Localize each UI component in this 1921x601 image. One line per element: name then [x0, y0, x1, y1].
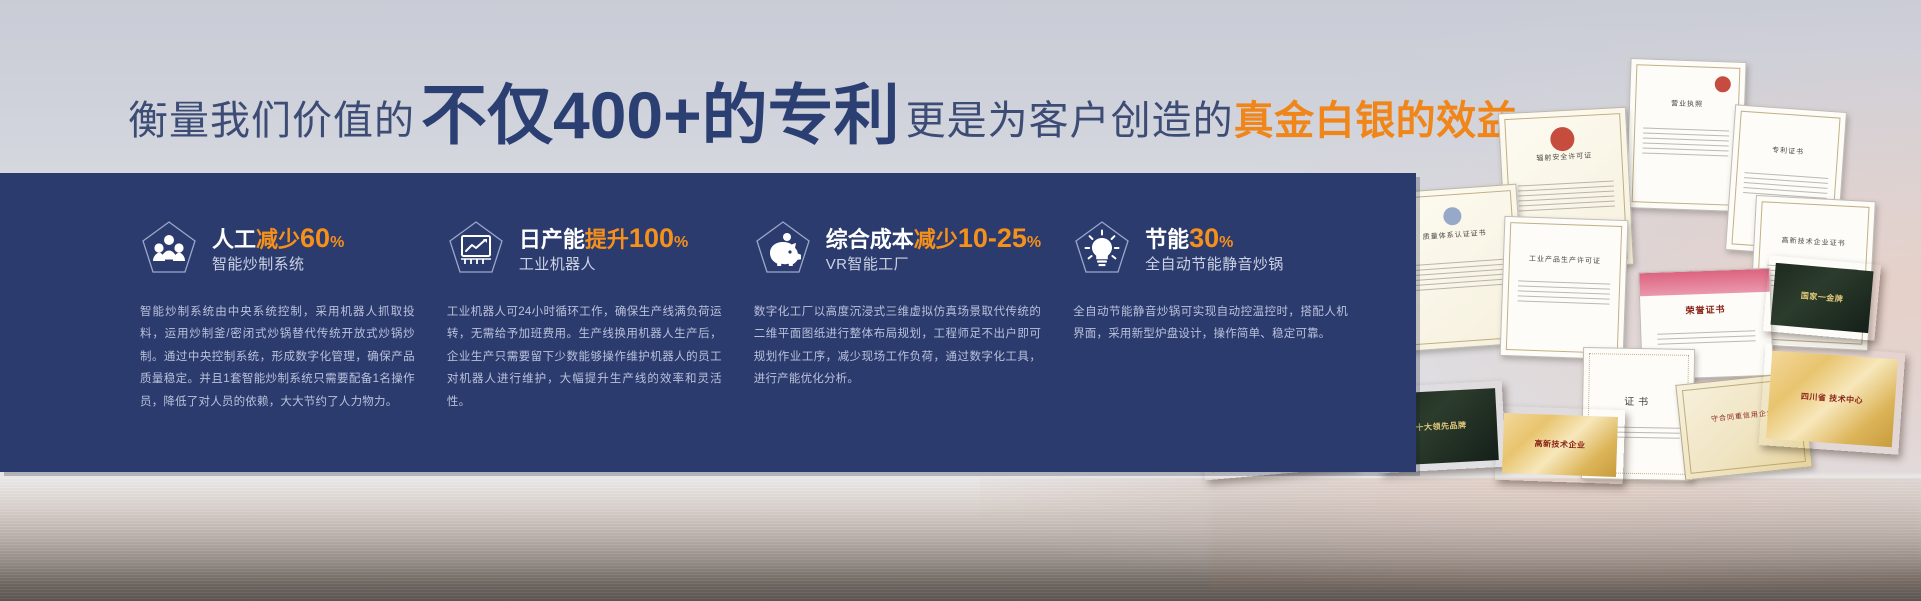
feature-subtitle: VR智能工厂	[826, 257, 1041, 272]
feature-description: 工业机器人可24小时循环工作，确保生产线满负荷运转，无需给予加班费用。生产线换用…	[447, 301, 722, 413]
feature-title-amount: 减少60%	[256, 227, 344, 252]
feature-title: 日产能提升100%	[519, 225, 688, 252]
feature-amount-number: 60	[300, 223, 330, 253]
feature-title-plain: 日产能	[519, 227, 585, 252]
lightbulb-icon	[1073, 219, 1131, 277]
plaque-face: 高新技术企业	[1502, 413, 1618, 477]
feature-subtitle: 全自动节能静音炒锅	[1145, 257, 1284, 272]
feature-title: 节能30%	[1145, 225, 1284, 252]
feature-amount-label: 减少	[256, 227, 300, 252]
feature-amount-unit: %	[674, 234, 688, 251]
feature-amount-number: 100	[629, 223, 674, 253]
feature-item: 人工减少60% 智能炒制系统 智能炒制系统由中央系统控制，采用机器人抓取投料，运…	[140, 217, 447, 413]
certificate-text-lines	[1642, 128, 1730, 161]
feature-title-group: 综合成本减少10-25% VR智能工厂	[826, 225, 1041, 272]
plaque-face: 国家一金牌	[1770, 263, 1873, 333]
feature-description: 智能炒制系统由中央系统控制，采用机器人抓取投料，运用炒制釜/密闭式炒锅替代传统开…	[140, 301, 415, 413]
feature-subtitle: 智能炒制系统	[212, 257, 344, 272]
headline-lead: 衡量我们价值的	[128, 101, 415, 141]
headline-middle: 更是为客户创造的	[906, 101, 1234, 141]
certificate-text-lines	[1517, 281, 1611, 309]
feature-panel: 人工减少60% 智能炒制系统 智能炒制系统由中央系统控制，采用机器人抓取投料，运…	[0, 173, 1416, 472]
chart-board-icon	[447, 219, 505, 277]
certificate-production-license: 工业产品生产许可证	[1500, 216, 1629, 360]
plaque-gold-award: 高新技术企业	[1495, 406, 1626, 484]
feature-header: 人工减少60% 智能炒制系统	[140, 217, 415, 279]
certificate-title: 荣誉证书	[1640, 301, 1770, 319]
plaque-face: 四川省 技术中心	[1766, 351, 1898, 448]
feature-amount-number: 10-25	[958, 223, 1027, 253]
feature-amount-unit: %	[1219, 234, 1233, 251]
banner-stage: 衡量我们价值的 不仅400+的专利 更是为客户创造的 真金白银的效益 营业执照 …	[0, 0, 1921, 601]
feature-amount-unit: %	[1027, 234, 1041, 251]
feature-header: 节能30% 全自动节能静音炒锅	[1073, 217, 1348, 279]
feature-item: 日产能提升100% 工业机器人 工业机器人可24小时循环工作，确保生产线满负荷运…	[447, 217, 754, 413]
people-group-icon	[140, 219, 198, 277]
feature-header: 日产能提升100% 工业机器人	[447, 217, 722, 279]
feature-list: 人工减少60% 智能炒制系统 智能炒制系统由中央系统控制，采用机器人抓取投料，运…	[140, 217, 1380, 413]
feature-title-plain: 综合成本	[826, 227, 914, 252]
feature-title-plain: 人工	[212, 227, 256, 252]
feature-title-amount: 提升100%	[585, 227, 688, 252]
feature-title-amount: 30%	[1189, 227, 1233, 252]
feature-item: 节能30% 全自动节能静音炒锅 全自动节能静音炒锅可实现自动控温控时，搭配人机界…	[1073, 217, 1380, 413]
certificate-text-lines	[1518, 180, 1615, 215]
feature-title: 综合成本减少10-25%	[826, 225, 1041, 252]
plaque-province-tech-center: 四川省 技术中心	[1759, 343, 1906, 455]
piggy-bank-icon	[754, 219, 812, 277]
feature-title-group: 节能30% 全自动节能静音炒锅	[1145, 225, 1284, 272]
plaque-first-class: 国家一金牌	[1763, 255, 1881, 340]
feature-amount-unit: %	[330, 234, 344, 251]
feature-amount-label: 提升	[585, 227, 629, 252]
headline-emphasis: 不仅400+的专利	[421, 82, 900, 148]
feature-title: 人工减少60%	[212, 225, 344, 252]
certificate-text-lines	[1657, 331, 1756, 349]
feature-title-plain: 节能	[1145, 227, 1189, 252]
feature-title-group: 日产能提升100% 工业机器人	[519, 225, 688, 272]
feature-amount-number: 30	[1189, 223, 1219, 253]
feature-header: 综合成本减少10-25% VR智能工厂	[754, 217, 1041, 279]
feature-amount-label: 减少	[914, 227, 958, 252]
feature-description: 数字化工厂以高度沉浸式三维虚拟仿真场景取代传统的二维平面图纸进行整体布局规划，工…	[754, 301, 1041, 391]
collage-water-reflection	[1210, 478, 1921, 588]
feature-subtitle: 工业机器人	[519, 257, 688, 272]
feature-title-amount: 减少10-25%	[914, 227, 1041, 252]
feature-item: 综合成本减少10-25% VR智能工厂 数字化工厂以高度沉浸式三维虚拟仿真场景取…	[754, 217, 1073, 413]
feature-title-group: 人工减少60% 智能炒制系统	[212, 225, 344, 272]
feature-description: 全自动节能静音炒锅可实现自动控温控时，搭配人机界面，采用新型炉盘设计，操作简单、…	[1073, 301, 1348, 346]
